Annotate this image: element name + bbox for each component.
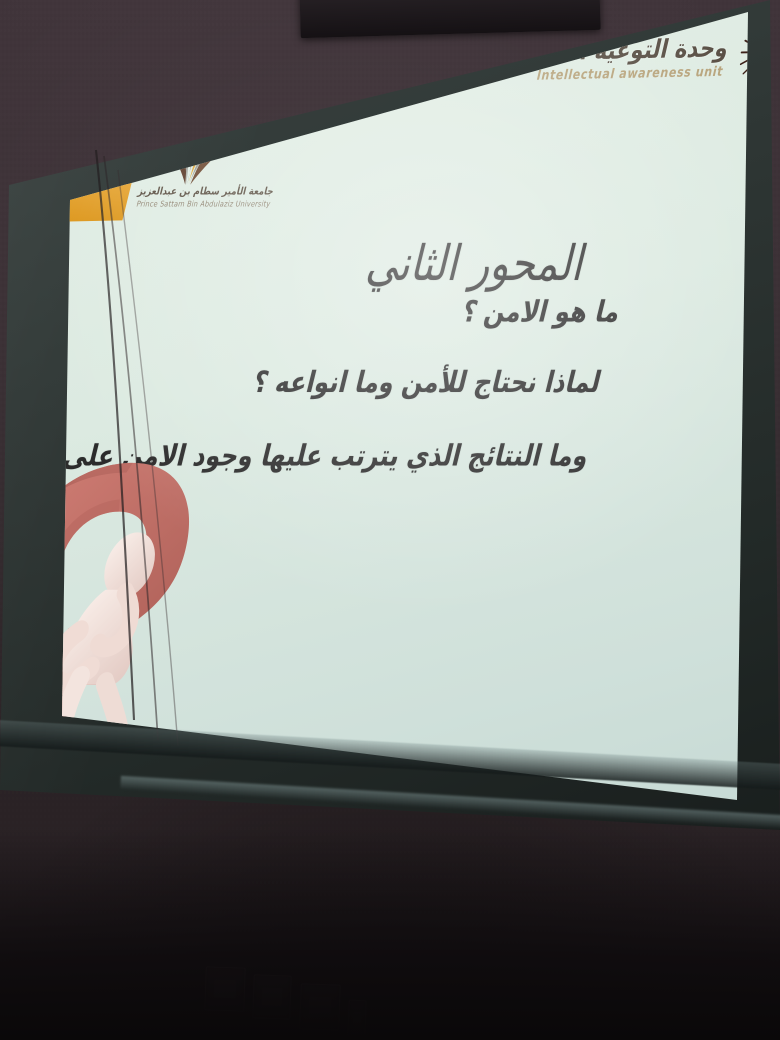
- projected-slide-photo: وحدة التوعية الفكرية Intellectual awaren…: [0, 0, 780, 1040]
- wall-outlet-1: [204, 966, 246, 1011]
- presentation-slide: وحدة التوعية الفكرية Intellectual awaren…: [0, 92, 778, 775]
- slide-body-line-1: ما هو الامن ؟: [459, 295, 625, 329]
- wall-switch: [347, 1000, 366, 1040]
- university-english-label: Prince Sattam Bin Abdulaziz University: [119, 200, 271, 209]
- university-arabic-label: جامعة الأمير سطام بن عبدالعزيز: [122, 187, 275, 199]
- slide-title: المحور الثاني: [362, 236, 593, 292]
- wall-outlet-3: [299, 983, 341, 1030]
- slide-body-line-2: لماذا نحتاج للأمن وما انواعه ؟: [250, 365, 605, 399]
- university-logo-text: جامعة الأمير سطام بن عبدالعزيز Prince Sa…: [119, 187, 274, 209]
- wall-outlet-2: [252, 974, 292, 1019]
